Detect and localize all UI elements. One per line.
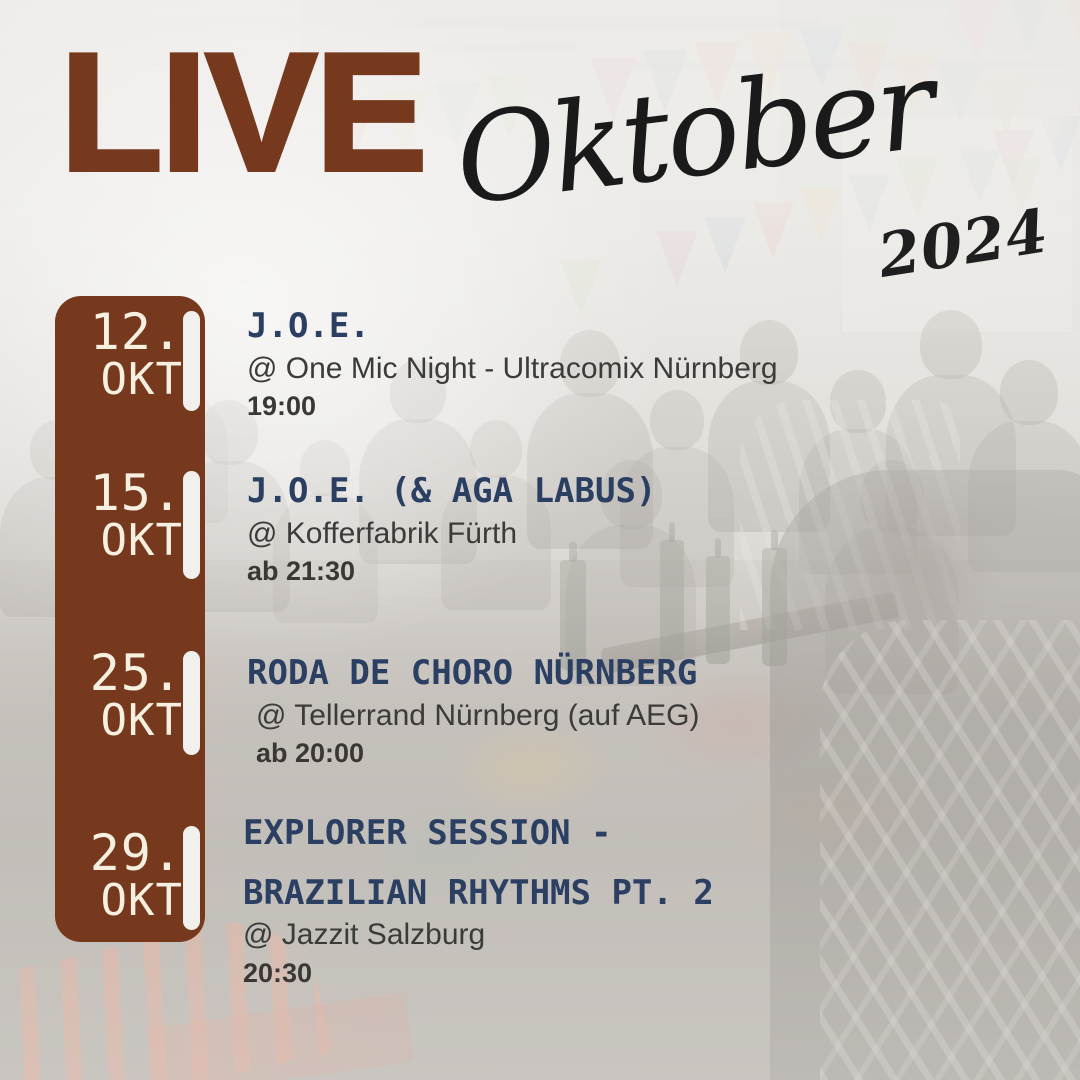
date-month-abbr: OKT [55,699,183,744]
event-venue: @ Kofferfabrik Fürth [247,516,656,553]
date-cell: 15.OKT [55,468,183,564]
date-day: 15. [55,468,183,519]
event-entry[interactable]: RODA DE CHORO NÜRNBERG@ Tellerrand Nürnb… [247,652,699,770]
event-time: ab 21:30 [247,555,656,587]
event-venue: @ Tellerrand Nürnberg (auf AEG) [247,698,699,735]
poster-content: LIVE Oktober 2024 12.OKT15.OKT25.OKT29.O… [0,0,1080,1080]
event-entry[interactable]: J.O.E. (& AGA LABUS)@ Kofferfabrik Fürth… [247,470,656,588]
date-month-abbr: OKT [55,519,183,564]
date-month-abbr: OKT [55,879,183,924]
event-time: 20:30 [243,957,714,989]
month-label: Oktober [449,43,937,222]
event-title: EXPLORER SESSION - [243,812,714,856]
event-entry[interactable]: J.O.E.@ One Mic Night - Ultracomix Nürnb… [247,305,778,423]
rail-notch [183,826,200,930]
year-label: 2024 [874,201,1052,287]
event-time: ab 20:00 [247,737,699,769]
event-time: 19:00 [247,390,778,422]
date-cell: 25.OKT [55,648,183,744]
event-title: J.O.E. [247,305,778,349]
date-day: 25. [55,648,183,699]
date-month-abbr: OKT [55,358,183,403]
page-title: LIVE [60,28,425,196]
event-entry[interactable]: EXPLORER SESSION -BRAZILIAN RHYTHMS PT. … [243,812,714,989]
poster-canvas: LIVE Oktober 2024 12.OKT15.OKT25.OKT29.O… [0,0,1080,1080]
date-day: 29. [55,828,183,879]
rail-notch [183,311,200,411]
date-day: 12. [55,307,183,358]
event-title: J.O.E. (& AGA LABUS) [247,470,656,514]
rail-notch [183,471,200,579]
event-title: RODA DE CHORO NÜRNBERG [247,652,699,696]
rail-notch [183,651,200,755]
date-cell: 29.OKT [55,828,183,924]
event-venue: @ One Mic Night - Ultracomix Nürnberg [247,351,778,388]
event-venue: @ Jazzit Salzburg [243,917,714,954]
event-title-line2: BRAZILIAN RHYTHMS PT. 2 [243,872,714,916]
date-cell: 12.OKT [55,307,183,403]
